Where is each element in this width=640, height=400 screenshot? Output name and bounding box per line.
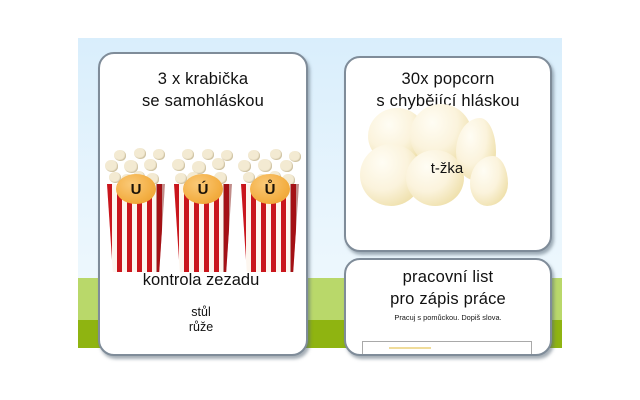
word-stul: stůl: [100, 305, 302, 320]
card-bottom-right-title: pracovní list pro zápis práce: [346, 260, 550, 310]
card-left-title-line1: 3 x krabička: [100, 68, 306, 90]
kernel-icon: [221, 150, 233, 161]
popcorn-box-u[interactable]: U: [105, 144, 167, 272]
card-left-footer-title: kontrola zezadu: [100, 270, 302, 291]
popcorn-boxes-row: U Ú: [105, 142, 301, 272]
card-left-title: 3 x krabička se samohláskou: [100, 54, 306, 112]
popcorn-kernel-illustration: t-žka: [352, 104, 542, 222]
kernel-icon: [289, 151, 301, 162]
popcorn-box-u-ring[interactable]: Ů: [239, 144, 301, 272]
kernel-icon: [153, 149, 165, 160]
popcorn-box-u-acute[interactable]: Ú: [172, 144, 234, 272]
kernel-icon: [114, 150, 126, 161]
kernel-icon: [258, 159, 272, 172]
card-left-word-list: stůl růže: [100, 305, 302, 335]
kernel-icon: [182, 149, 194, 160]
card-top-right-title-line1: 30x popcorn: [346, 68, 550, 90]
cup-shadow: [290, 184, 299, 272]
letter-badge: U: [116, 174, 156, 204]
letter-badge: Ú: [183, 174, 223, 204]
worksheet-instruction: Pracuj s pomůckou. Dopiš slova.: [346, 313, 550, 322]
kernel-icon: [270, 149, 282, 160]
kernel-icon: [144, 159, 157, 171]
card-left-title-line2: se samohláskou: [100, 90, 306, 112]
kernel-icon: [172, 159, 185, 171]
cup-shadow: [223, 184, 232, 272]
puff-icon: [406, 150, 464, 206]
letter-badge: Ů: [250, 174, 290, 204]
card-bottom-right-title-line1: pracovní list: [346, 266, 550, 288]
screenshot-root: 3 x krabička se samohláskou: [0, 0, 640, 400]
kernel-label: t-žka: [352, 160, 542, 177]
card-worksheet[interactable]: pracovní list pro zápis práce Pracuj s p…: [344, 258, 552, 356]
card-missing-sound[interactable]: 30x popcorn s chybějící hláskou t-žka: [344, 56, 552, 252]
kernel-icon: [202, 149, 214, 160]
worksheet-blank-line: [389, 347, 431, 349]
card-bottom-right-title-line2: pro zápis práce: [346, 288, 550, 310]
worksheet-preview-frame: [362, 341, 532, 354]
cup-shadow: [156, 184, 165, 272]
card-vowel-boxes[interactable]: 3 x krabička se samohláskou: [98, 52, 308, 356]
kernel-icon: [105, 160, 118, 172]
kernel-icon: [248, 150, 260, 161]
kernel-icon: [238, 160, 251, 172]
kernel-icon: [134, 148, 146, 159]
word-ruze: růže: [100, 320, 302, 335]
kernel-icon: [280, 160, 293, 172]
